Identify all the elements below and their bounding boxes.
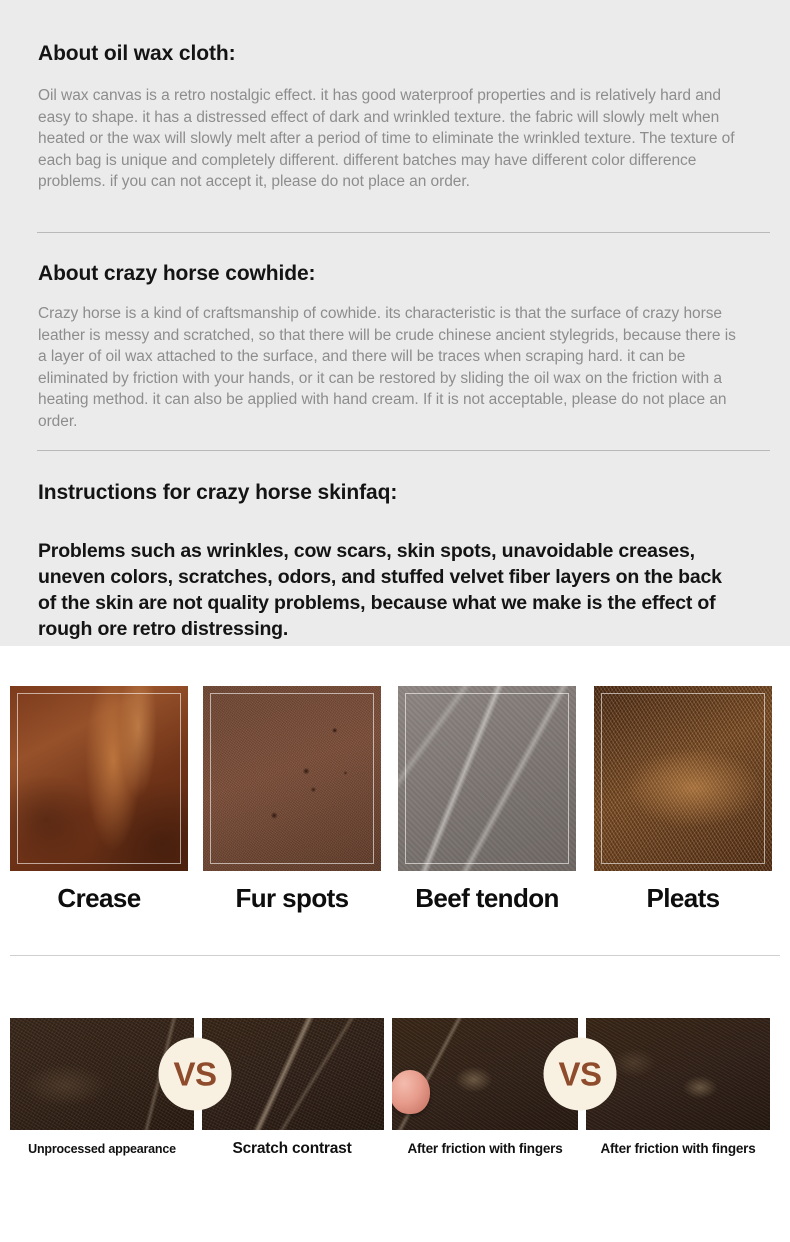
swatch-label-crease: Crease: [10, 883, 188, 914]
product-info-panel: About oil wax cloth: Oil wax canvas is a…: [0, 0, 790, 646]
swatch-cell-pleats: Pleats: [594, 686, 772, 914]
comparison-caption-scratch: Scratch contrast: [200, 1140, 384, 1158]
section-emphasis-quality-note: Problems such as wrinkles, cow scars, sk…: [38, 538, 744, 642]
swatch-image-beef-tendon: [398, 686, 576, 871]
leather-defect-swatch-row: Crease Fur spots Beef tendon Pleats: [0, 646, 790, 926]
swatch-label-fur-spots: Fur spots: [203, 883, 381, 914]
vs-badge-1: VS: [159, 1038, 232, 1111]
comparison-pair-1: VS: [10, 1018, 384, 1130]
section-title-crazy-horse-cowhide: About crazy horse cowhide:: [38, 262, 315, 286]
section-divider-3: [10, 955, 780, 956]
swatch-cell-fur-spots: Fur spots: [203, 686, 381, 914]
swatch-cell-beef-tendon: Beef tendon: [398, 686, 576, 914]
comparison-caption-friction-right: After friction with fingers: [586, 1141, 770, 1156]
swatch-image-crease: [10, 686, 188, 871]
swatch-label-beef-tendon: Beef tendon: [398, 883, 576, 914]
section-body-oil-wax-cloth: Oil wax canvas is a retro nostalgic effe…: [38, 85, 754, 193]
section-title-crazy-horse-skinfaq: Instructions for crazy horse skinfaq:: [38, 481, 397, 505]
swatch-cell-crease: Crease: [10, 686, 188, 914]
comparison-row: VS VS: [0, 1018, 790, 1130]
comparison-pair-2: VS: [392, 1018, 770, 1130]
section-divider-2: [37, 450, 770, 451]
swatch-image-pleats: [594, 686, 772, 871]
swatch-label-pleats: Pleats: [594, 883, 772, 914]
comparison-caption-unprocessed: Unprocessed appearance: [10, 1142, 194, 1156]
swatch-image-fur-spots: [203, 686, 381, 871]
finger-tip-icon: [392, 1070, 430, 1114]
section-title-oil-wax-cloth: About oil wax cloth:: [38, 42, 236, 66]
comparison-caption-friction-left: After friction with fingers: [392, 1141, 578, 1156]
section-body-crazy-horse-cowhide: Crazy horse is a kind of craftsmanship o…: [38, 303, 746, 432]
section-divider-1: [37, 232, 770, 233]
vs-badge-2: VS: [544, 1038, 617, 1111]
